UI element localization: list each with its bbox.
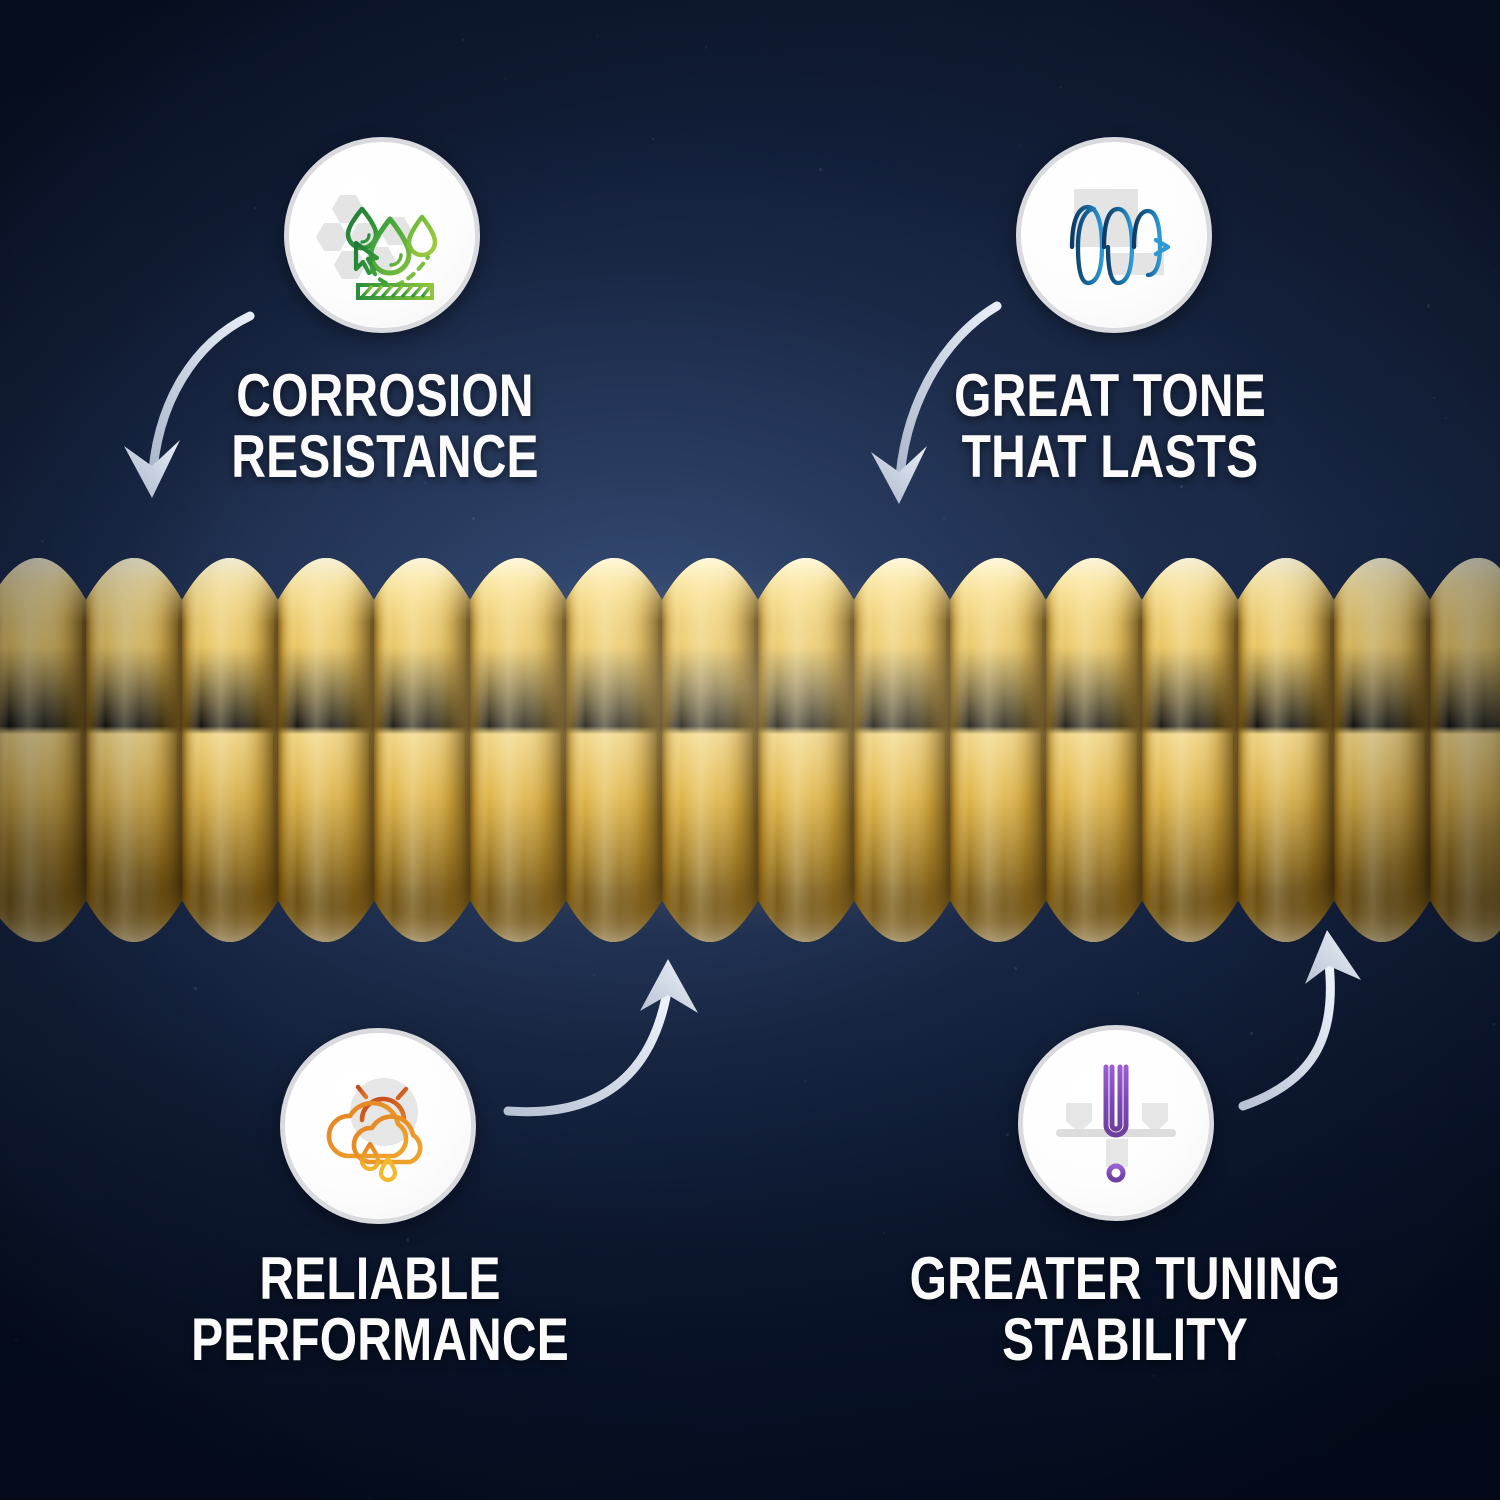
sound-waveform-icon <box>1044 165 1184 305</box>
feature-icon-reliable-performance[interactable] <box>280 1028 476 1224</box>
feature-icon-corrosion-resistance[interactable] <box>284 137 480 333</box>
feature-label-greater-tuning-stability: GREATER TUNING STABILITY <box>901 1248 1349 1370</box>
feature-icon-great-tone-that-lasts[interactable] <box>1016 137 1212 333</box>
feature-icon-greater-tuning-stability[interactable] <box>1018 1025 1214 1221</box>
feature-label-reliable-performance: RELIABLE PERFORMANCE <box>188 1248 572 1370</box>
coil-graphic <box>0 552 1500 948</box>
tuning-fork-icon <box>1044 1051 1188 1195</box>
sun-cloud-rain-weather-icon <box>308 1056 448 1196</box>
gold-coiled-string <box>0 552 1500 948</box>
feature-label-corrosion-resistance: CORROSION RESISTANCE <box>193 365 577 487</box>
water-repellent-drops-icon <box>312 165 452 305</box>
infographic-canvas: CORROSION RESISTANCE GREAT TONE THAT LAS… <box>0 0 1500 1500</box>
feature-label-great-tone-that-lasts: GREAT TONE THAT LASTS <box>918 365 1302 487</box>
